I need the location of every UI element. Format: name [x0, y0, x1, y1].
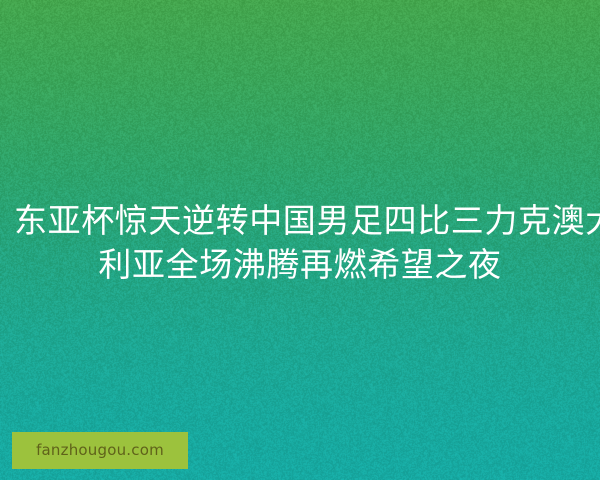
watermark-site-label: fanzhougou.com — [36, 443, 164, 458]
cover-title-line-2: 利亚全场沸腾再燃希望之夜 — [14, 243, 586, 287]
watermark-badge: fanzhougou.com — [12, 432, 188, 469]
cover-image-canvas: 东亚杯惊天逆转中国男足四比三力克澳大 利亚全场沸腾再燃希望之夜 fanzhoug… — [0, 0, 600, 480]
cover-title: 东亚杯惊天逆转中国男足四比三力克澳大 利亚全场沸腾再燃希望之夜 — [0, 199, 600, 287]
cover-title-line-1: 东亚杯惊天逆转中国男足四比三力克澳大 — [14, 199, 586, 243]
